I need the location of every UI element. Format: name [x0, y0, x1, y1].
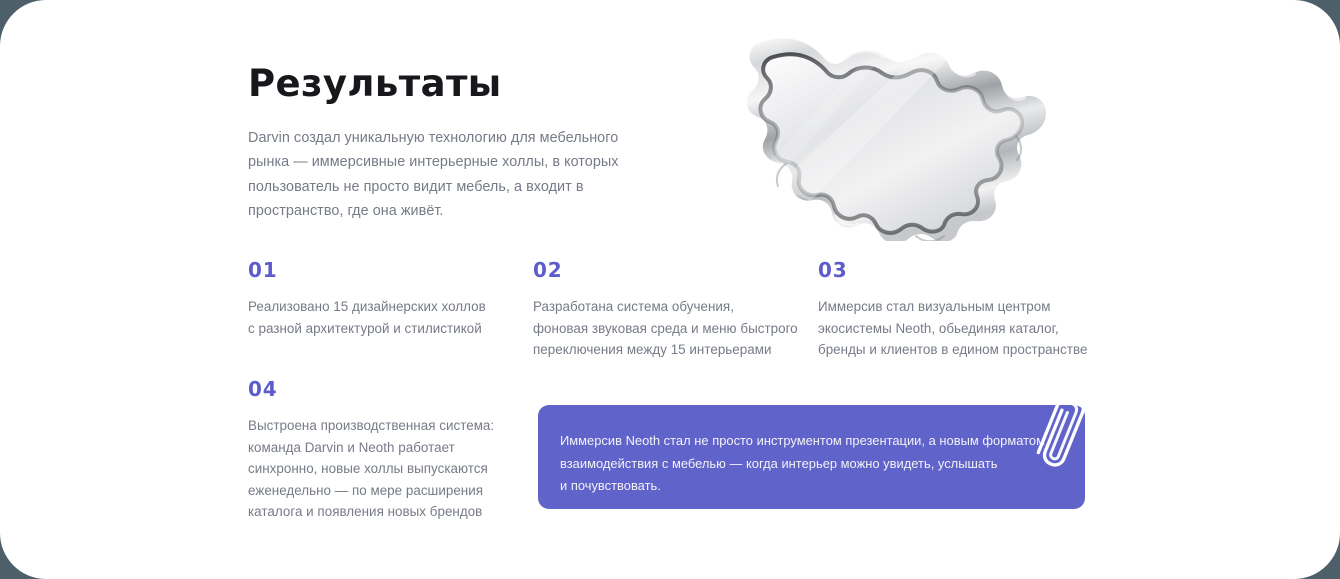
- result-number: 01: [248, 258, 508, 282]
- intro-paragraph: Darvin создал уникальную технологию для …: [248, 126, 638, 224]
- result-item-03: 03 Иммерсив стал визуальным центром экос…: [818, 258, 1098, 361]
- result-number: 04: [248, 377, 510, 401]
- result-item-04: 04 Выстроена производственная система: к…: [248, 377, 510, 523]
- heading-block: Результаты Darvin создал уникальную техн…: [248, 62, 648, 224]
- callout-card: Иммерсив Neoth стал не просто инструмент…: [538, 405, 1085, 509]
- callout-text: Иммерсив Neoth стал не просто инструмент…: [560, 430, 1052, 498]
- blob-mirror-image: [716, 36, 1056, 241]
- result-description: Разработана система обучения, фоновая зв…: [533, 296, 808, 361]
- result-number: 02: [533, 258, 808, 282]
- page-title: Результаты: [248, 62, 648, 106]
- result-item-02: 02 Разработана система обучения, фоновая…: [533, 258, 808, 361]
- result-description: Выстроена производственная система: кома…: [248, 415, 510, 523]
- result-description: Иммерсив стал визуальным центром экосист…: [818, 296, 1098, 361]
- result-description: Реализовано 15 дизайнерских холлов с раз…: [248, 296, 508, 339]
- result-item-01: 01 Реализовано 15 дизайнерских холлов с …: [248, 258, 508, 339]
- result-number: 03: [818, 258, 1098, 282]
- slide-canvas: Результаты Darvin создал уникальную техн…: [0, 0, 1340, 579]
